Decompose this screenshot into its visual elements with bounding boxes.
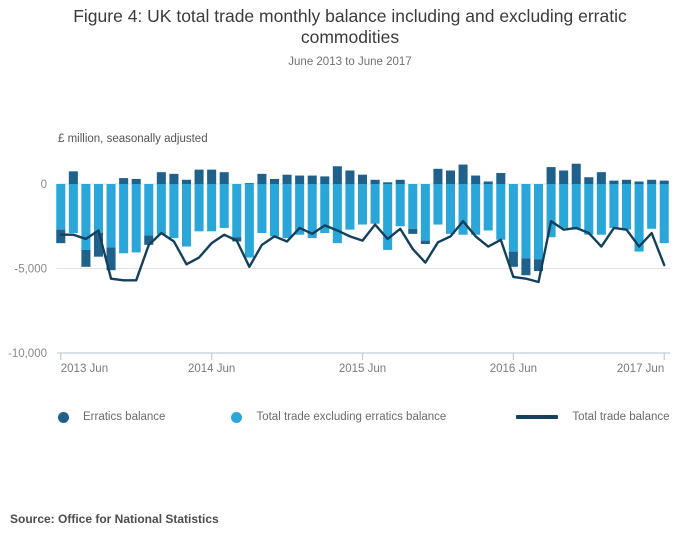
legend-item-3[interactable]: Total trade balance	[516, 411, 677, 423]
x-axis-tick-label: 2014 Jun	[188, 363, 235, 375]
bar-excluding-erratics	[195, 184, 204, 231]
x-axis-tick-label: 2016 Jun	[490, 363, 537, 375]
x-axis-tick-label: 2017 Jun	[617, 363, 664, 375]
bar-erratics	[572, 164, 581, 184]
legend-dot-swatch	[58, 412, 69, 423]
bar-erratics	[433, 169, 442, 184]
bar-excluding-erratics	[270, 184, 279, 236]
bar-erratics	[584, 177, 593, 184]
y-axis-labels: 0-5,000-10,000	[8, 179, 47, 360]
bar-erratics	[371, 180, 380, 184]
source-note: Source: Office for National Statistics	[10, 512, 219, 526]
bar-excluding-erratics	[660, 184, 669, 243]
bar-erratics	[182, 180, 191, 184]
legend-item-1[interactable]: Erratics balance	[58, 411, 173, 423]
bar-erratics	[635, 181, 644, 184]
bar-excluding-erratics	[509, 184, 518, 252]
y-axis-tick-label: -5,000	[14, 264, 47, 276]
bar-erratics	[81, 250, 90, 267]
bar-erratics	[245, 183, 254, 184]
bar-excluding-erratics	[396, 184, 405, 226]
bar-erratics	[383, 182, 392, 184]
bar-series	[56, 164, 669, 276]
bar-erratics	[220, 172, 229, 184]
legend-item-label: Total trade excluding erratics balance	[256, 411, 446, 423]
bar-erratics	[270, 179, 279, 184]
bar-excluding-erratics	[371, 184, 380, 224]
bar-erratics	[622, 180, 631, 184]
bar-excluding-erratics	[245, 184, 254, 258]
bar-erratics	[547, 167, 556, 184]
bar-excluding-erratics	[572, 184, 581, 230]
trade-balance-chart: 2013 Jun2014 Jun2015 Jun2016 Jun2017 Jun…	[0, 0, 700, 400]
bar-excluding-erratics	[119, 184, 128, 253]
bar-erratics	[459, 165, 468, 184]
bar-erratics	[496, 173, 505, 184]
bar-excluding-erratics	[559, 184, 568, 228]
bar-erratics	[333, 166, 342, 184]
bar-excluding-erratics	[182, 184, 191, 247]
bar-excluding-erratics	[521, 184, 530, 258]
bar-erratics	[484, 181, 493, 184]
bar-excluding-erratics	[132, 184, 141, 252]
bar-excluding-erratics	[308, 184, 317, 238]
x-axis-ticks: 2013 Jun2014 Jun2015 Jun2016 Jun2017 Jun	[61, 353, 664, 375]
bar-erratics	[358, 175, 367, 184]
bar-erratics	[308, 176, 317, 184]
bar-excluding-erratics	[345, 184, 354, 230]
bar-excluding-erratics	[207, 184, 216, 231]
x-axis-tick-label: 2015 Jun	[339, 363, 386, 375]
bar-excluding-erratics	[584, 184, 593, 235]
bar-erratics	[396, 180, 405, 184]
bar-excluding-erratics	[333, 184, 342, 243]
bar-excluding-erratics	[459, 184, 468, 235]
bar-excluding-erratics	[647, 184, 656, 229]
x-axis-tick-label: 2013 Jun	[61, 363, 108, 375]
bar-erratics	[69, 171, 78, 184]
bar-excluding-erratics	[56, 184, 65, 230]
figure-container: Figure 4: UK total trade monthly balance…	[0, 0, 700, 549]
bar-erratics	[56, 230, 65, 244]
bar-erratics	[295, 176, 304, 184]
bar-excluding-erratics	[446, 184, 455, 234]
bar-erratics	[408, 229, 417, 234]
bar-erratics	[257, 174, 266, 184]
bar-excluding-erratics	[547, 184, 556, 237]
bar-excluding-erratics	[257, 184, 266, 233]
y-axis-tick-label: 0	[41, 179, 47, 191]
bar-erratics	[207, 170, 216, 184]
legend-line-swatch	[516, 415, 558, 419]
bar-erratics	[119, 178, 128, 184]
bar-excluding-erratics	[433, 184, 442, 225]
bar-excluding-erratics	[609, 184, 618, 228]
bar-excluding-erratics	[232, 184, 241, 237]
bar-excluding-erratics	[358, 184, 367, 225]
bar-excluding-erratics	[408, 184, 417, 229]
bar-erratics	[521, 258, 530, 275]
bar-erratics	[283, 175, 292, 184]
bar-excluding-erratics	[421, 184, 430, 241]
bar-excluding-erratics	[94, 184, 103, 233]
bar-erratics	[195, 170, 204, 184]
bar-erratics	[471, 176, 480, 184]
bar-excluding-erratics	[496, 184, 505, 240]
bar-excluding-erratics	[220, 184, 229, 228]
legend-dot-swatch	[231, 412, 242, 423]
bar-erratics	[446, 170, 455, 184]
bar-erratics	[345, 170, 354, 184]
bar-excluding-erratics	[534, 184, 543, 259]
bar-erratics	[647, 180, 656, 184]
bar-erratics	[157, 172, 166, 184]
legend-item-2[interactable]: Total trade excluding erratics balance	[231, 411, 454, 423]
bar-excluding-erratics	[484, 184, 493, 230]
bar-excluding-erratics	[622, 184, 631, 230]
bar-erratics	[421, 241, 430, 244]
bar-excluding-erratics	[144, 184, 153, 236]
bar-excluding-erratics	[283, 184, 292, 238]
chart-legend: Erratics balanceTotal trade excluding er…	[58, 405, 678, 429]
bar-erratics	[559, 170, 568, 184]
y-axis-tick-label: -10,000	[8, 348, 47, 360]
bar-erratics	[609, 181, 618, 184]
bar-erratics	[169, 174, 178, 184]
bar-excluding-erratics	[597, 184, 606, 235]
chart-plot-area: 2013 Jun2014 Jun2015 Jun2016 Jun2017 Jun…	[0, 0, 700, 400]
bar-erratics	[132, 179, 141, 184]
bar-erratics	[660, 181, 669, 184]
bar-excluding-erratics	[471, 184, 480, 235]
legend-item-label: Total trade balance	[572, 411, 669, 423]
bar-erratics	[320, 176, 329, 184]
bar-excluding-erratics	[107, 184, 116, 247]
legend-item-label: Erratics balance	[83, 411, 165, 423]
bar-excluding-erratics	[69, 184, 78, 233]
bar-excluding-erratics	[157, 184, 166, 235]
bar-erratics	[597, 172, 606, 184]
bar-excluding-erratics	[169, 184, 178, 238]
